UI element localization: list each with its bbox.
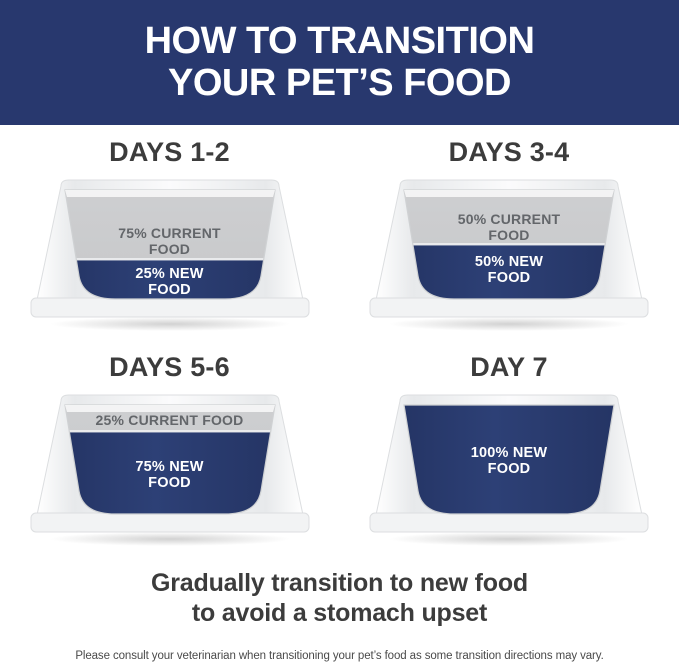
bowl-illustration-1 — [25, 172, 315, 332]
footer-disclaimer: Please consult your veterinarian when tr… — [0, 650, 679, 662]
bowl-illustration-2 — [364, 172, 654, 332]
food-bowl-1: 75% CURRENT FOOD 25% NEW FOOD — [25, 172, 315, 332]
bowl-base — [31, 298, 309, 317]
step-title-3: DAYS 5-6 — [109, 354, 230, 381]
bowl-shadow — [389, 532, 629, 546]
bowl-illustration-4 — [364, 387, 654, 547]
bowl-base — [370, 513, 648, 532]
transition-steps-grid: DAYS 1-2 — [0, 125, 679, 569]
banner-title-line-1: HOW TO TRANSITION — [145, 21, 535, 62]
bowl-shadow — [389, 317, 629, 331]
footer-section: Gradually transition to new food to avoi… — [0, 568, 679, 662]
food-bowl-4: 100% NEW FOOD — [364, 387, 654, 547]
bowl-base — [31, 513, 309, 532]
step-title-2: DAYS 3-4 — [449, 139, 570, 166]
bowl-shadow — [50, 532, 290, 546]
food-bowl-3: 25% CURRENT FOOD 75% NEW FOOD — [25, 387, 315, 547]
food-bowl-2: 50% CURRENT FOOD 50% NEW FOOD — [364, 172, 654, 332]
rim-highlight — [404, 190, 614, 197]
rim-highlight — [65, 405, 275, 412]
step-title-1: DAYS 1-2 — [109, 139, 230, 166]
rim-highlight — [65, 190, 275, 197]
banner-title-line-2: YOUR PET’S FOOD — [168, 63, 511, 104]
header-banner: HOW TO TRANSITION YOUR PET’S FOOD — [0, 0, 679, 125]
bowl-illustration-3 — [25, 387, 315, 547]
transition-step-card-4: DAY 7 — [339, 354, 679, 569]
transition-step-card-3: DAYS 5-6 — [0, 354, 339, 569]
transition-step-card-1: DAYS 1-2 — [0, 139, 339, 354]
footer-headline-line-2: to avoid a stomach upset — [0, 598, 679, 628]
transition-step-card-2: DAYS 3-4 — [339, 139, 679, 354]
bowl-base — [370, 298, 648, 317]
bowl-shadow — [50, 317, 290, 331]
step-title-4: DAY 7 — [470, 354, 548, 381]
footer-headline-line-1: Gradually transition to new food — [0, 568, 679, 598]
